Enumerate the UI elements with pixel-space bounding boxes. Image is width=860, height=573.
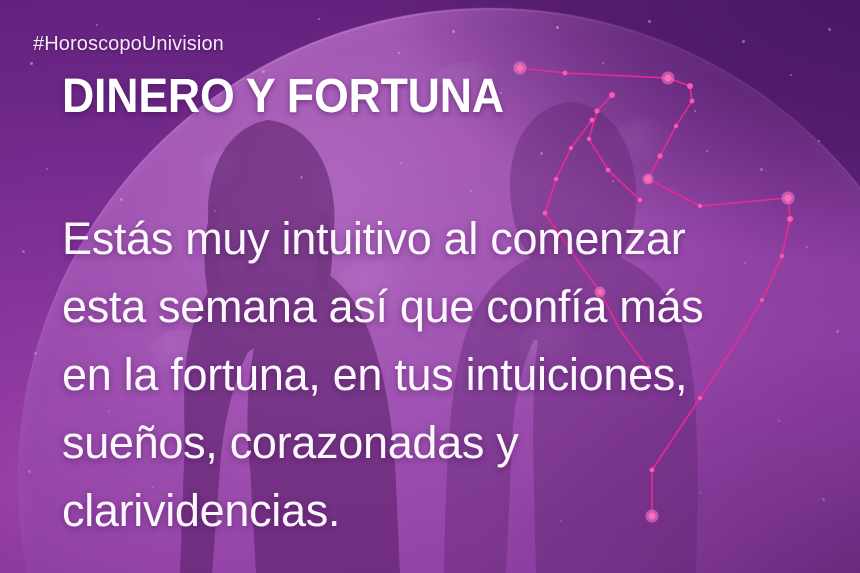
horoscope-card: #HoroscopoUnivision DINERO Y FORTUNA Est…: [0, 0, 860, 573]
body-line: sueños, corazonadas y: [62, 409, 822, 477]
body-line: esta semana así que confía más: [62, 273, 822, 341]
text-content: #HoroscopoUnivision DINERO Y FORTUNA Est…: [0, 0, 860, 573]
horoscope-body: Estás muy intuitivo al comenzar esta sem…: [62, 205, 822, 545]
page-title: DINERO Y FORTUNA: [62, 72, 504, 122]
body-line: en la fortuna, en tus intuiciones,: [62, 341, 822, 409]
body-line: Estás muy intuitivo al comenzar: [62, 205, 822, 273]
body-line: clarividencias.: [62, 477, 822, 545]
hashtag-label: #HoroscopoUnivision: [33, 33, 224, 56]
